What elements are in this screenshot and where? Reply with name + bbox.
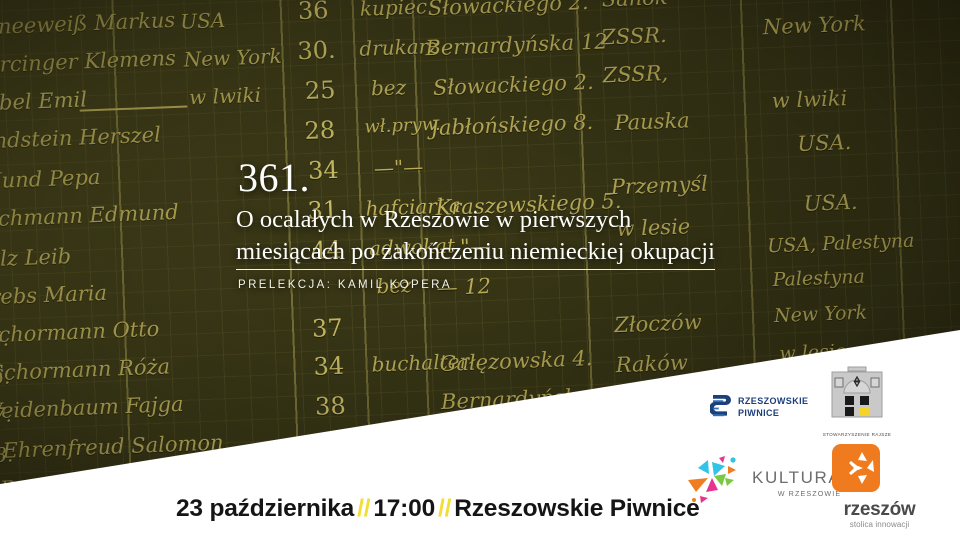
title-line-1: O ocalałych w Rzeszowie w pierwszych bbox=[236, 204, 756, 236]
logo-rzeszowskie-piwnice[interactable]: RZESZOWSKIE PIWNICE bbox=[710, 394, 808, 421]
event-time: 17:00 bbox=[373, 495, 435, 522]
kultura-pinwheel-icon bbox=[678, 452, 750, 514]
event-number: 361. bbox=[238, 158, 756, 198]
event-venue: Rzeszowskie Piwnice bbox=[454, 495, 699, 522]
kultura-wordmark: KULTURA W RZESZOWIE bbox=[752, 469, 841, 498]
logo-rzeszow-stolica-innowacji[interactable]: rzeszów stolica innowacji bbox=[832, 444, 927, 529]
headline-block: 361. O ocalałych w Rzeszowie w pierwszyc… bbox=[236, 158, 756, 291]
event-poster: Schneeweiß Markus Marcinger Klemens Vőbe… bbox=[0, 0, 960, 540]
rzeszow-line-2: stolica innowacji bbox=[832, 520, 927, 529]
piwnice-line-2: PIWNICE bbox=[738, 408, 808, 419]
rajsze-caption: STOWARZYSZENIE RAJSZE bbox=[815, 432, 899, 437]
title-line-2: miesiącach po zakończeniu niemieckiej ok… bbox=[236, 236, 715, 270]
rzeszow-emblem-icon bbox=[832, 444, 880, 492]
sponsor-logos: RZESZOWSKIE PIWNICE STOWARZYSZENIE RAJSZ… bbox=[680, 360, 960, 540]
piwnice-wordmark: RZESZOWSKIE PIWNICE bbox=[738, 396, 808, 419]
logo-stowarzyszenie-rajsze[interactable]: STOWARZYSZENIE RAJSZE bbox=[815, 365, 899, 437]
separator-icon: // bbox=[357, 495, 370, 522]
page-title: O ocalałych w Rzeszowie w pierwszych mie… bbox=[236, 204, 756, 270]
separator-icon: // bbox=[438, 495, 451, 522]
piwnice-line-1: RZESZOWSKIE bbox=[738, 396, 808, 407]
logo-kultura-w-rzeszowie[interactable]: KULTURA W RZESZOWIE bbox=[678, 452, 841, 514]
piwnice-stairs-icon bbox=[710, 394, 731, 421]
kultura-line-1: KULTURA bbox=[752, 469, 841, 486]
kultura-line-2: W RZESZOWIE bbox=[752, 489, 841, 498]
speaker-label: PRELEKCJA: KAMIL KOPERA bbox=[238, 279, 756, 291]
synagogue-building-icon bbox=[824, 365, 890, 425]
event-details: 23 października//17:00//Rzeszowskie Piwn… bbox=[176, 495, 700, 523]
rzeszow-line-1: rzeszów bbox=[832, 500, 927, 519]
event-date: 23 października bbox=[176, 495, 354, 522]
